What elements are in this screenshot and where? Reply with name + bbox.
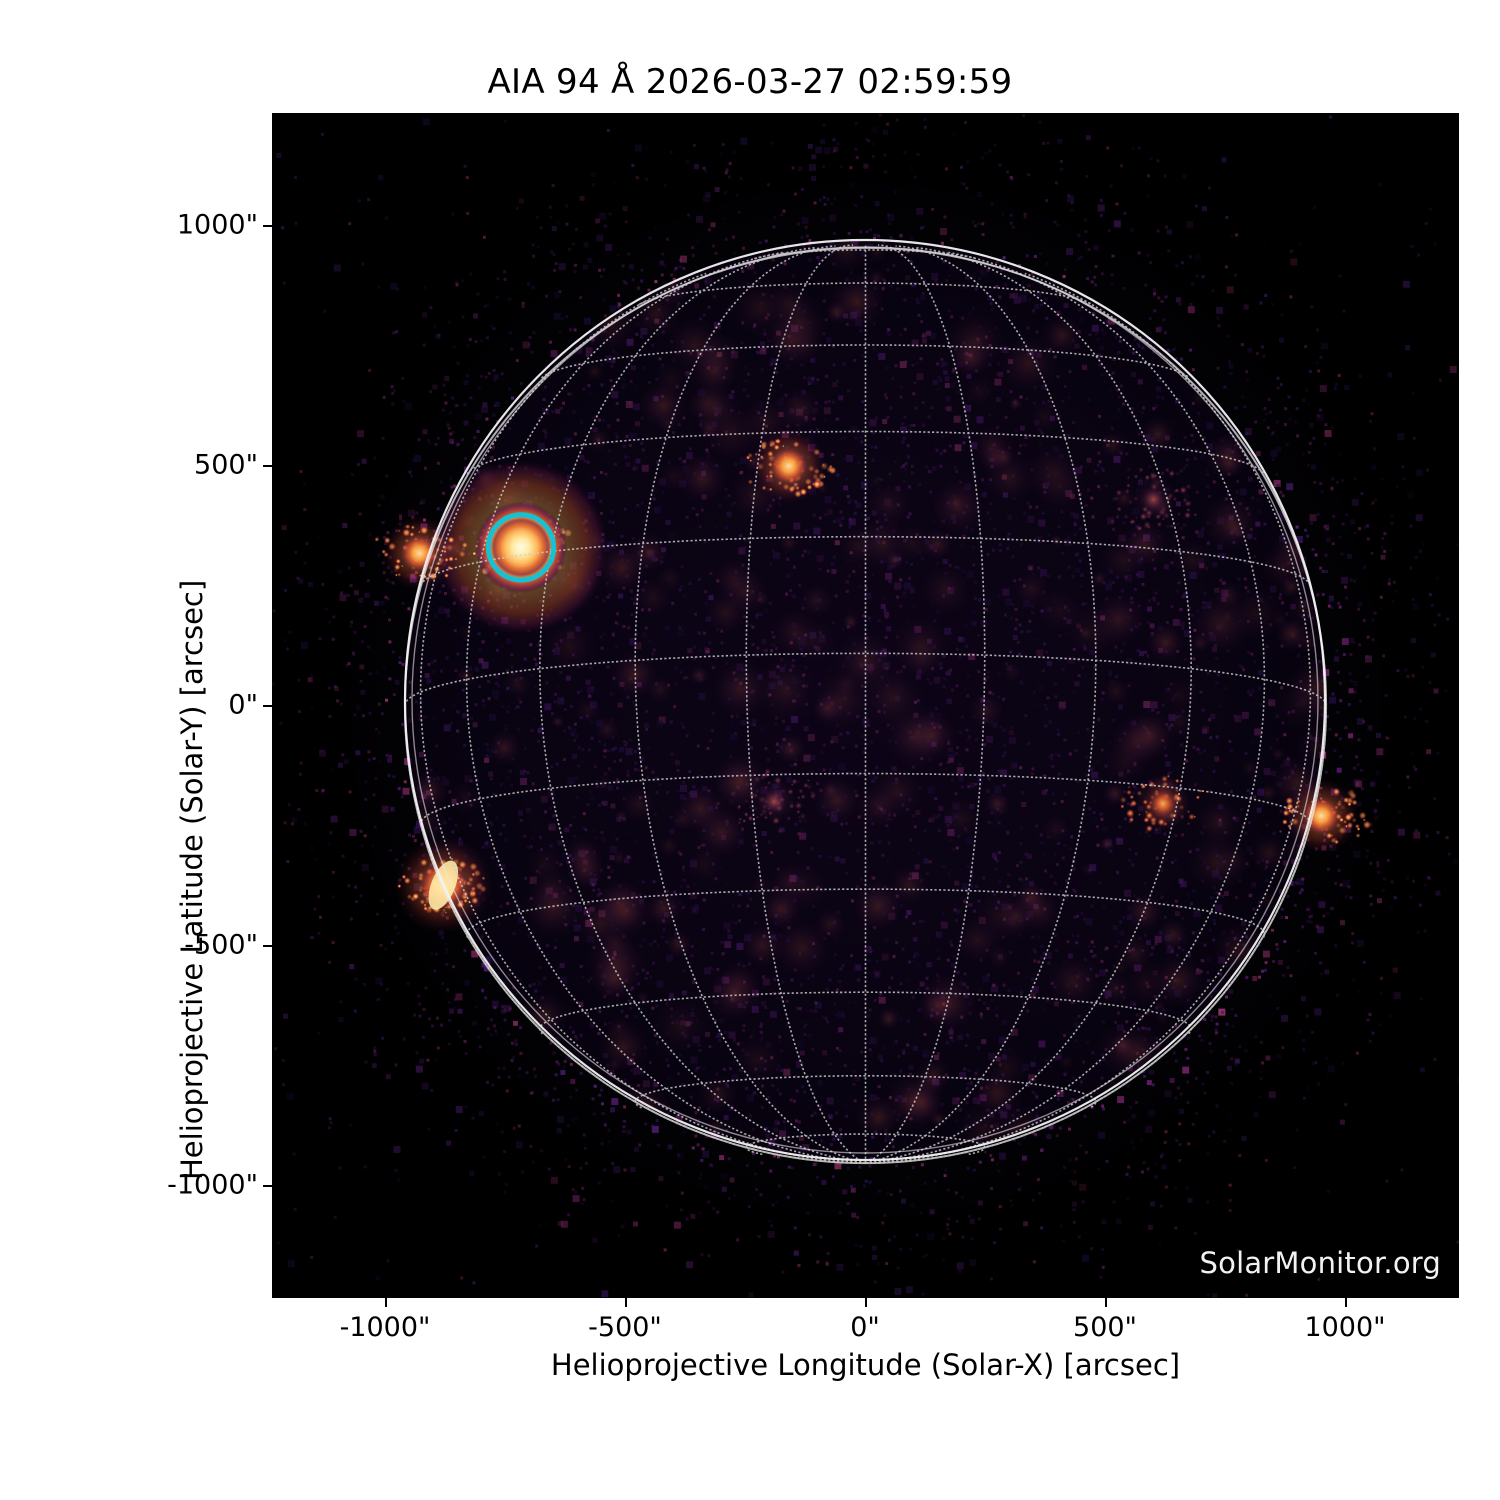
- watermark: SolarMonitor.org: [1200, 1246, 1441, 1280]
- xtick-mark: [625, 1298, 627, 1307]
- x-axis-label: Helioprojective Longitude (Solar-X) [arc…: [272, 1348, 1459, 1382]
- xtick-label: -1000": [340, 1312, 431, 1343]
- xtick-mark: [865, 1298, 867, 1307]
- xtick-mark: [1345, 1298, 1347, 1307]
- xtick-label: 500": [1073, 1312, 1137, 1343]
- xtick-label: -500": [588, 1312, 662, 1343]
- xtick-mark: [1105, 1298, 1107, 1307]
- xtick-mark: [385, 1298, 387, 1307]
- ytick-mark: [263, 1185, 272, 1187]
- ytick-label: 1000": [177, 210, 258, 241]
- y-axis-label: Helioprojective Latitude (Solar-Y) [arcs…: [175, 580, 209, 1180]
- solar-image-canvas[interactable]: SolarMonitor.org: [272, 113, 1459, 1298]
- ytick-label: 500": [194, 450, 258, 481]
- solar-disk-plot: [272, 113, 1459, 1298]
- xtick-label: 1000": [1304, 1312, 1385, 1343]
- ytick-mark: [263, 465, 272, 467]
- ytick-mark: [263, 225, 272, 227]
- ytick-label: 0": [228, 690, 258, 721]
- ytick-mark: [263, 705, 272, 707]
- ytick-mark: [263, 945, 272, 947]
- page-title: AIA 94 Å 2026-03-27 02:59:59: [0, 62, 1500, 102]
- xtick-label: 0": [850, 1312, 880, 1343]
- solar-image-figure: AIA 94 Å 2026-03-27 02:59:59: [0, 0, 1500, 1500]
